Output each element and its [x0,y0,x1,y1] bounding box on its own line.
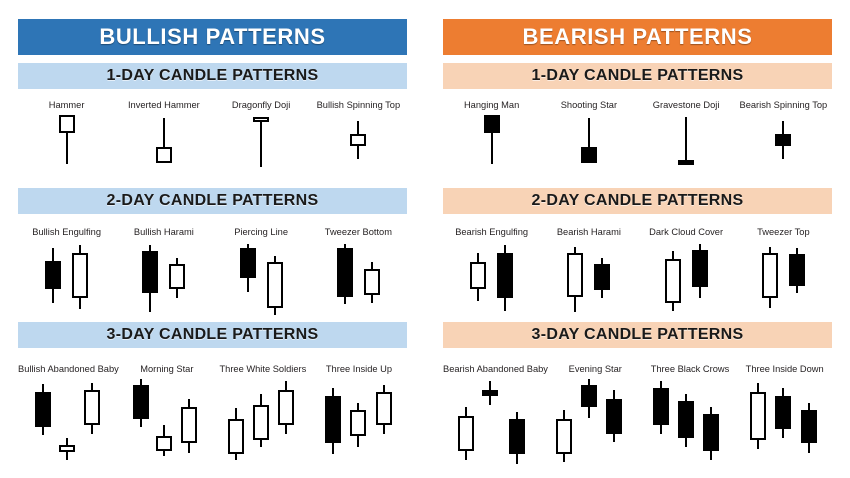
pattern-label: Bullish Spinning Top [310,100,407,114]
pattern-label: Piercing Line [213,227,310,241]
pattern-label: Gravestone Doji [638,100,735,114]
bullish-section-1-row [18,114,407,186]
candle-body [278,390,294,425]
pattern-cell [310,242,407,320]
pattern-cell [18,379,115,471]
candle-body [364,269,380,296]
candle-body [509,419,525,454]
candle-body [484,115,500,132]
candle-filled [700,379,722,471]
pattern-cell [735,242,832,320]
bearish-section-1-row [443,114,832,186]
bullish-section-1-banner: 1-DAY CANDLE PATTERNS [18,63,407,89]
candle-hollow [250,379,272,471]
candle-filled [334,242,356,320]
candle-body [59,445,75,451]
pattern-label: Three Inside Down [737,364,832,378]
candle-body [606,399,622,434]
candle-hollow [467,242,489,320]
pattern-cell [213,242,310,320]
pattern-label: Inverted Hammer [115,100,212,114]
candle-body [267,262,283,307]
candle-body [45,261,61,289]
pattern-label: Evening Star [548,364,643,378]
candle-hollow [225,379,247,471]
candle-body [142,251,158,293]
candle-filled [578,379,600,471]
pattern-cell [115,379,212,471]
pattern-cell [443,242,540,320]
candle-hollow [759,242,781,320]
candle-hollow [264,242,286,320]
pattern-cell [213,114,310,186]
bullish-section-3-heading: 3-DAY CANDLE PATTERNS [107,326,319,344]
candle-body [169,264,185,289]
candle-body [750,392,766,440]
pattern-label: Dragonfly Doji [213,100,310,114]
candle-hollow [553,379,575,471]
candle-body [482,390,498,396]
pattern-cell [540,379,637,471]
bearish-section-1-labels: Hanging Man Shooting Star Gravestone Doj… [443,100,832,114]
candle-filled [675,114,697,186]
bearish-section-3-banner: 3-DAY CANDLE PATTERNS [443,322,832,348]
pattern-label: Three Inside Up [311,364,407,378]
candle-filled [798,379,820,471]
candle-hollow [373,379,395,471]
pattern-label: Bullish Engulfing [18,227,115,241]
candle-filled [494,242,516,320]
pattern-label: Tweezer Bottom [310,227,407,241]
bullish-section-1-heading: 1-DAY CANDLE PATTERNS [107,67,319,85]
pattern-label: Tweezer Top [735,227,832,241]
candle-body [567,253,583,297]
candle-body [35,392,51,427]
candle-hollow [347,379,369,471]
candle-hollow [81,379,103,471]
candle-body [762,253,778,298]
bullish-section-3-row [18,379,407,471]
pattern-cell [443,114,540,186]
candle-hollow [153,114,175,186]
pattern-cell [735,114,832,186]
pattern-label: Shooting Star [540,100,637,114]
candle-filled [650,379,672,471]
candle-filled [689,242,711,320]
pattern-label: Hanging Man [443,100,540,114]
candle-body [59,115,75,132]
candle-body [156,147,172,163]
bullish-column: BULLISH PATTERNS 1-DAY CANDLE PATTERNS H… [0,0,425,478]
candle-body [376,392,392,425]
candle-filled [130,379,152,471]
candle-body [181,407,197,444]
bullish-section-2-row [18,242,407,320]
pattern-cell [115,242,212,320]
candle-body [594,264,610,291]
candle-body [678,160,694,165]
candle-hollow [250,114,272,186]
candle-body [228,419,244,454]
candle-hollow [455,379,477,471]
pattern-label: Hammer [18,100,115,114]
candle-body [470,262,486,289]
candlestick-pattern-chart: BULLISH PATTERNS 1-DAY CANDLE PATTERNS H… [0,0,850,478]
candle-body [692,250,708,287]
candle-filled [479,379,501,471]
candle-hollow [275,379,297,471]
candle-body [72,253,88,298]
candle-filled [675,379,697,471]
candle-filled [578,114,600,186]
candle-hollow [56,379,78,471]
bullish-section-2-heading: 2-DAY CANDLE PATTERNS [107,192,319,210]
bearish-section-2-banner: 2-DAY CANDLE PATTERNS [443,188,832,214]
pattern-cell [638,242,735,320]
bearish-section-3-row [443,379,832,471]
candle-hollow [747,379,769,471]
pattern-label: Three White Soldiers [215,364,311,378]
candle-filled [603,379,625,471]
candle-hollow [69,242,91,320]
candle-hollow [662,242,684,320]
pattern-label: Morning Star [119,364,215,378]
candle-body [84,390,100,425]
pattern-label: Bearish Abandoned Baby [443,364,548,378]
candle-filled [772,114,794,186]
candle-filled [591,242,613,320]
candle-body [253,405,269,440]
bearish-section-2-heading: 2-DAY CANDLE PATTERNS [532,192,744,210]
candle-wick [260,117,262,167]
candle-filled [322,379,344,471]
candle-hollow [361,242,383,320]
bearish-section-2-row [443,242,832,320]
pattern-cell [18,114,115,186]
candle-filled [139,242,161,320]
candle-filled [237,242,259,320]
bullish-section-1-labels: Hammer Inverted Hammer Dragonfly Doji Bu… [18,100,407,114]
bearish-section-1-banner: 1-DAY CANDLE PATTERNS [443,63,832,89]
candle-body [556,419,572,454]
candle-hollow [153,379,175,471]
bullish-section-2-banner: 2-DAY CANDLE PATTERNS [18,188,407,214]
bearish-title: BEARISH PATTERNS [522,24,752,50]
candle-body [581,385,597,407]
candle-body [801,410,817,443]
pattern-cell [115,114,212,186]
pattern-label: Three Black Crows [643,364,738,378]
candle-body [337,248,353,296]
pattern-cell [540,242,637,320]
candle-hollow [178,379,200,471]
bearish-section-1-heading: 1-DAY CANDLE PATTERNS [532,67,744,85]
candle-body [789,254,805,285]
candle-body [458,416,474,451]
pattern-cell [18,242,115,320]
candle-body [703,414,719,451]
candle-body [240,248,256,278]
pattern-cell [310,114,407,186]
candle-filled [506,379,528,471]
candle-body [253,117,269,122]
candle-body [581,147,597,163]
pattern-cell [735,379,832,471]
pattern-label: Bearish Engulfing [443,227,540,241]
candle-hollow [56,114,78,186]
candle-filled [481,114,503,186]
bullish-title: BULLISH PATTERNS [99,24,325,50]
pattern-cell [638,379,735,471]
candle-body [133,385,149,420]
candle-hollow [347,114,369,186]
bearish-title-banner: BEARISH PATTERNS [443,19,832,55]
candle-body [665,259,681,303]
bearish-section-2-labels: Bearish Engulfing Bearish Harami Dark Cl… [443,227,832,241]
candle-filled [32,379,54,471]
pattern-cell [213,379,310,471]
candle-body [775,396,791,429]
pattern-label: Dark Cloud Cover [638,227,735,241]
candle-body [775,134,791,146]
bearish-section-3-labels: Bearish Abandoned Baby Evening Star Thre… [443,364,832,378]
candle-filled [42,242,64,320]
bullish-section-3-banner: 3-DAY CANDLE PATTERNS [18,322,407,348]
candle-body [350,134,366,146]
candle-body [156,436,172,451]
pattern-cell [310,379,407,471]
candle-body [350,410,366,436]
candle-filled [786,242,808,320]
candle-filled [772,379,794,471]
bullish-section-2-labels: Bullish Engulfing Bullish Harami Piercin… [18,227,407,241]
bullish-title-banner: BULLISH PATTERNS [18,19,407,55]
pattern-label: Bullish Harami [115,227,212,241]
candle-body [325,396,341,444]
candle-hollow [166,242,188,320]
pattern-cell [638,114,735,186]
candle-hollow [564,242,586,320]
pattern-label: Bearish Spinning Top [735,100,832,114]
bearish-column: BEARISH PATTERNS 1-DAY CANDLE PATTERNS H… [425,0,850,478]
candle-body [497,253,513,298]
bullish-section-3-labels: Bullish Abandoned Baby Morning Star Thre… [18,364,407,378]
pattern-label: Bearish Harami [540,227,637,241]
candle-body [678,401,694,438]
candle-body [653,388,669,425]
pattern-cell [540,114,637,186]
pattern-label: Bullish Abandoned Baby [18,364,119,378]
pattern-cell [443,379,540,471]
candle-wick [685,117,687,165]
bearish-section-3-heading: 3-DAY CANDLE PATTERNS [532,326,744,344]
